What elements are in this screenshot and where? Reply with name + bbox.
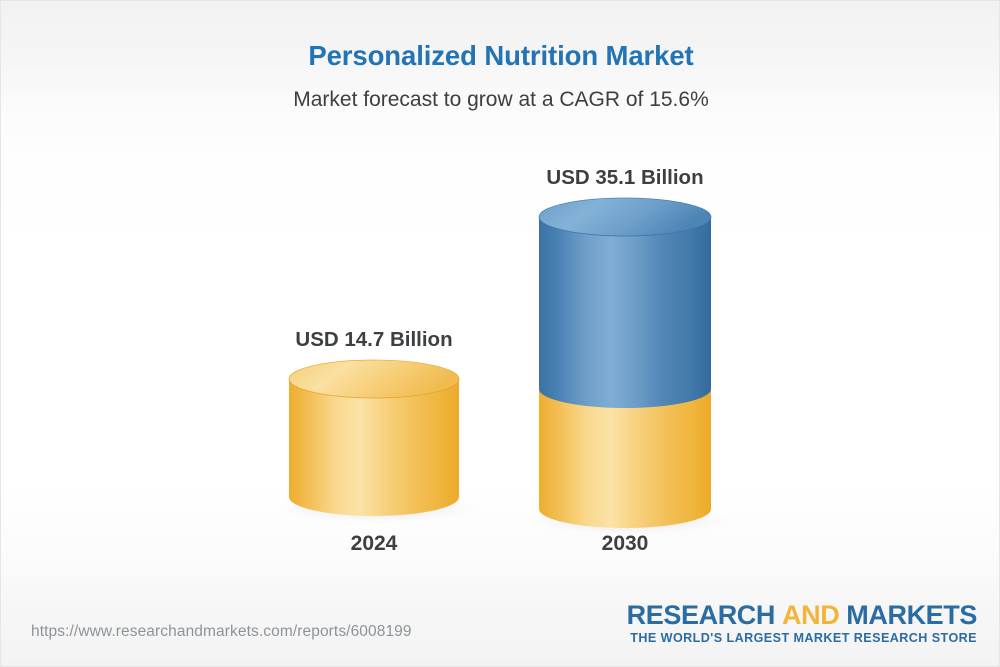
chart-plot-area: USD 14.7 Billion: [1, 1, 1000, 601]
researchandmarkets-logo[interactable]: RESEARCHANDMARKETS THE WORLD'S LARGEST M…: [627, 601, 977, 646]
cylinder-bar-2024: [269, 359, 479, 539]
logo-tagline: THE WORLD'S LARGEST MARKET RESEARCH STOR…: [627, 629, 977, 646]
bar-category-label-2024: 2024: [244, 532, 504, 556]
bar-value-label-2024: USD 14.7 Billion: [244, 328, 504, 352]
source-url[interactable]: https://www.researchandmarkets.com/repor…: [31, 623, 412, 641]
logo-word-markets: MARKETS: [846, 600, 977, 630]
logo-word-and: AND: [775, 600, 846, 630]
logo-wordmark: RESEARCHANDMARKETS: [627, 601, 977, 629]
logo-word-research: RESEARCH: [627, 600, 775, 630]
cylinder-bar-2030: [519, 197, 731, 552]
bar-value-label-2030: USD 35.1 Billion: [495, 166, 755, 190]
infographic-canvas: Personalized Nutrition Market Market for…: [0, 0, 1000, 667]
bar-category-label-2030: 2030: [495, 532, 755, 556]
